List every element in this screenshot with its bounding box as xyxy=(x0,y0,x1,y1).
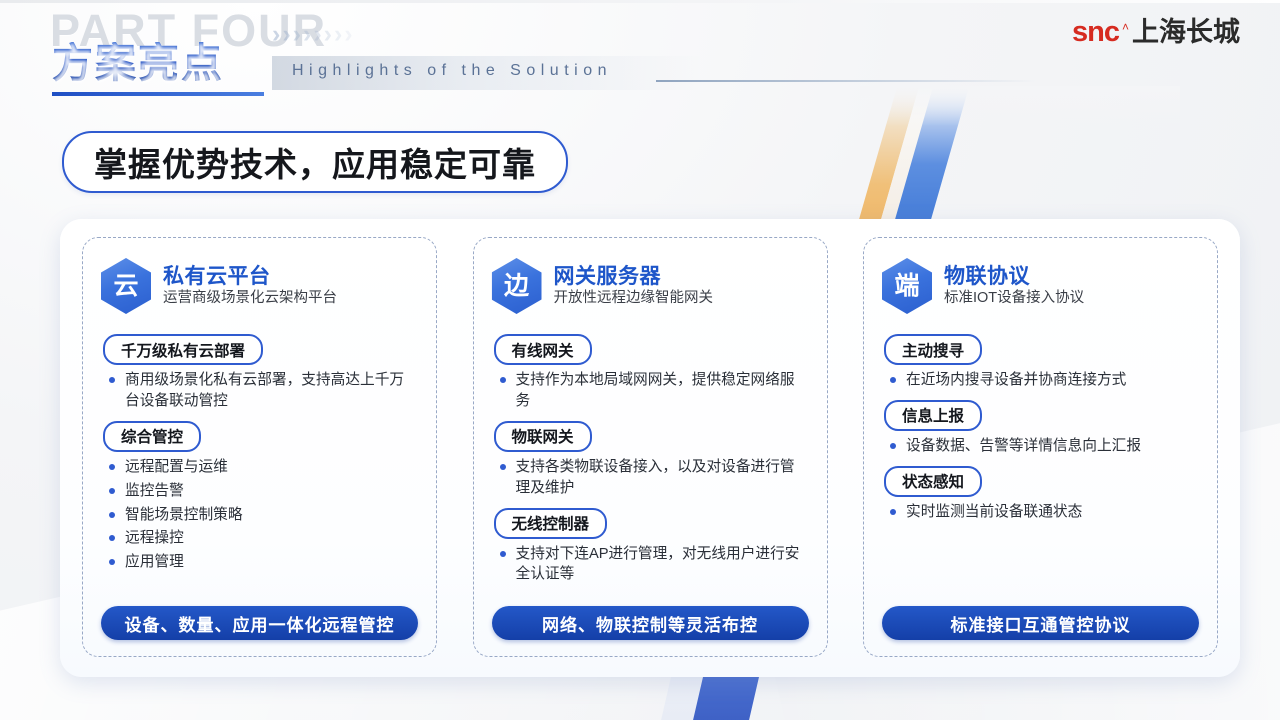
page-title-underline xyxy=(52,92,264,96)
hexagon-badge-label: 边 xyxy=(504,274,529,299)
english-title-rule xyxy=(656,80,1036,82)
column-footer-text: 标准接口互通管控协议 xyxy=(951,611,1131,636)
bullet-list: 在近场内搜寻设备并协商连接方式 xyxy=(882,370,1199,391)
feature-section: 有线网关支持作为本地局域网网关，提供稳定网络服务 xyxy=(492,328,809,412)
bullet-item: 在近场内搜寻设备并协商连接方式 xyxy=(888,370,1199,391)
hexagon-badge-label: 端 xyxy=(894,274,919,299)
slide-root: PART FOUR ›››››››› 方案亮点 Highlights of th… xyxy=(0,0,1280,720)
bullet-item: 远程配置与运维 xyxy=(107,457,418,478)
feature-section: 千万级私有云部署商用级场景化私有云部署，支持高达上千万台设备联动管控 xyxy=(101,328,418,412)
section-pill-label: 综合管控 xyxy=(103,421,201,452)
chevron-icon: › xyxy=(293,22,301,47)
bullet-list: 支持各类物联设备接入，以及对设备进行管理及维护 xyxy=(492,457,809,499)
feature-section: 物联网关支持各类物联设备接入，以及对设备进行管理及维护 xyxy=(492,415,809,499)
section-pill-label: 无线控制器 xyxy=(494,508,608,539)
column-subtitle: 运营商级场景化云架构平台 xyxy=(163,291,337,307)
chevron-icon: › xyxy=(324,22,332,47)
bullet-item: 支持对下连AP进行管理，对无线用户进行安全认证等 xyxy=(498,544,809,586)
logo-caret-icon: ˄ xyxy=(1122,20,1129,34)
hexagon-shape: 端 xyxy=(882,258,932,314)
bullet-list: 商用级场景化私有云部署，支持高达上千万台设备联动管控 xyxy=(101,370,418,412)
section-pill-label: 物联网关 xyxy=(494,421,592,452)
column-header: 云私有云平台运营商级场景化云架构平台 xyxy=(101,258,418,314)
hexagon-shape: 云 xyxy=(101,258,151,314)
column-title: 网关服务器 xyxy=(554,265,714,288)
column-header: 边网关服务器开放性远程边缘智能网关 xyxy=(492,258,809,314)
feature-column: 端物联协议标准IOT设备接入协议主动搜寻在近场内搜寻设备并协商连接方式信息上报设… xyxy=(863,237,1218,657)
feature-section: 综合管控远程配置与运维监控告警智能场景控制策略远程操控应用管理 xyxy=(101,415,418,573)
slide-header: PART FOUR ›››››››› 方案亮点 Highlights of th… xyxy=(0,0,1280,104)
page-title-english: Highlights of the Solution xyxy=(292,62,612,80)
columns-container: 云私有云平台运营商级场景化云架构平台千万级私有云部署商用级场景化私有云部署，支持… xyxy=(60,219,1240,677)
section-pill-label: 信息上报 xyxy=(884,400,982,431)
bullet-item: 应用管理 xyxy=(107,552,418,573)
hexagon-shape: 边 xyxy=(492,258,542,314)
section-pill-label: 主动搜寻 xyxy=(884,334,982,365)
bullet-list: 设备数据、告警等详情信息向上汇报 xyxy=(882,436,1199,457)
bullet-list: 支持对下连AP进行管理，对无线用户进行安全认证等 xyxy=(492,544,809,586)
hexagon-badge-icon: 边 xyxy=(492,258,542,314)
column-title: 物联协议 xyxy=(944,265,1084,288)
feature-section: 信息上报设备数据、告警等详情信息向上汇报 xyxy=(882,394,1199,457)
bullet-item: 实时监测当前设备联通状态 xyxy=(888,502,1199,523)
bullet-list: 远程配置与运维监控告警智能场景控制策略远程操控应用管理 xyxy=(101,457,418,573)
bullet-item: 设备数据、告警等详情信息向上汇报 xyxy=(888,436,1199,457)
column-footer-banner: 设备、数量、应用一体化远程管控 xyxy=(101,606,418,640)
feature-section: 状态感知实时监测当前设备联通状态 xyxy=(882,460,1199,523)
logo-mark-text: snc xyxy=(1072,18,1119,47)
column-footer-text: 设备、数量、应用一体化远程管控 xyxy=(125,611,395,636)
chevron-icon: › xyxy=(303,22,311,47)
column-header: 端物联协议标准IOT设备接入协议 xyxy=(882,258,1199,314)
column-title-group: 网关服务器开放性远程边缘智能网关 xyxy=(554,265,714,307)
headline-banner: 掌握优势技术，应用稳定可靠 xyxy=(62,131,568,193)
chevron-icon: › xyxy=(334,22,342,47)
chevron-icon: › xyxy=(272,22,280,47)
header-top-rule xyxy=(0,0,1280,3)
chevron-icon: › xyxy=(313,22,321,47)
section-pill-label: 有线网关 xyxy=(494,334,592,365)
page-title: 方案亮点 xyxy=(52,42,224,85)
hexagon-badge-label: 云 xyxy=(113,274,138,299)
chevron-decoration: ›››››››› xyxy=(272,22,353,47)
section-pill-label: 状态感知 xyxy=(884,466,982,497)
bullet-list: 支持作为本地局域网网关，提供稳定网络服务 xyxy=(492,370,809,412)
bullet-item: 智能场景控制策略 xyxy=(107,505,418,526)
column-subtitle: 开放性远程边缘智能网关 xyxy=(554,291,714,307)
column-footer-banner: 网络、物联控制等灵活布控 xyxy=(492,606,809,640)
chevron-icon: › xyxy=(344,22,352,47)
feature-column: 边网关服务器开放性远程边缘智能网关有线网关支持作为本地局域网网关，提供稳定网络服… xyxy=(473,237,828,657)
hexagon-badge-icon: 端 xyxy=(882,258,932,314)
column-subtitle: 标准IOT设备接入协议 xyxy=(944,291,1084,307)
section-pill-label: 千万级私有云部署 xyxy=(103,334,263,365)
column-footer-text: 网络、物联控制等灵活布控 xyxy=(542,611,758,636)
bullet-item: 商用级场景化私有云部署，支持高达上千万台设备联动管控 xyxy=(107,370,418,412)
column-title: 私有云平台 xyxy=(163,265,337,288)
feature-section: 主动搜寻在近场内搜寻设备并协商连接方式 xyxy=(882,328,1199,391)
logo-company-name: 上海长城 xyxy=(1132,19,1240,46)
column-title-group: 私有云平台运营商级场景化云架构平台 xyxy=(163,265,337,307)
chevron-icon: › xyxy=(282,22,290,47)
bullet-item: 远程操控 xyxy=(107,528,418,549)
headline-text: 掌握优势技术，应用稳定可靠 xyxy=(94,138,536,186)
feature-section: 无线控制器支持对下连AP进行管理，对无线用户进行安全认证等 xyxy=(492,502,809,586)
bullet-item: 监控告警 xyxy=(107,481,418,502)
feature-column: 云私有云平台运营商级场景化云架构平台千万级私有云部署商用级场景化私有云部署，支持… xyxy=(82,237,437,657)
bullet-list: 实时监测当前设备联通状态 xyxy=(882,502,1199,523)
hexagon-badge-icon: 云 xyxy=(101,258,151,314)
content-card: 云私有云平台运营商级场景化云架构平台千万级私有云部署商用级场景化私有云部署，支持… xyxy=(60,219,1240,677)
bullet-item: 支持各类物联设备接入，以及对设备进行管理及维护 xyxy=(498,457,809,499)
column-title-group: 物联协议标准IOT设备接入协议 xyxy=(944,265,1084,307)
bullet-item: 支持作为本地局域网网关，提供稳定网络服务 xyxy=(498,370,809,412)
brand-logo: snc ˄ 上海长城 xyxy=(1072,18,1240,47)
column-footer-banner: 标准接口互通管控协议 xyxy=(882,606,1199,640)
